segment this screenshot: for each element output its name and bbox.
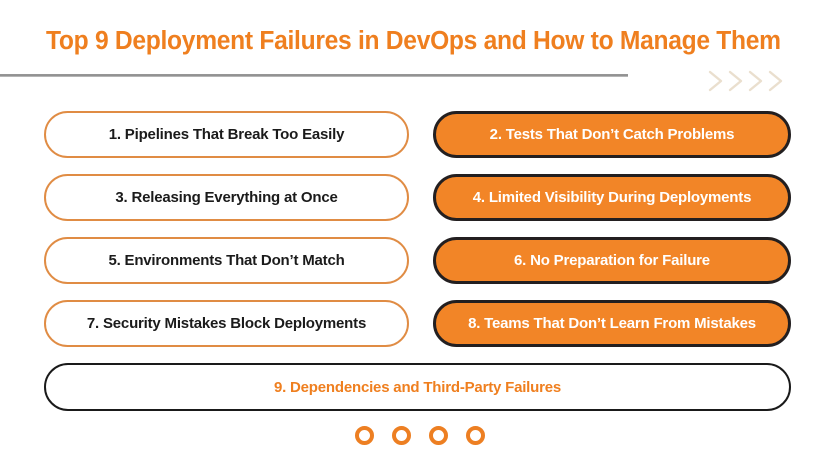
list-item[interactable]: 8. Teams That Don’t Learn From Mistakes: [433, 300, 791, 347]
list-item[interactable]: 4. Limited Visibility During Deployments: [433, 174, 791, 221]
list-item[interactable]: 6. No Preparation for Failure: [433, 237, 791, 284]
ring-dot-icon[interactable]: [429, 426, 448, 445]
ring-dot-icon[interactable]: [392, 426, 411, 445]
infographic-canvas: Top 9 Deployment Failures in DevOps and …: [0, 0, 840, 449]
pagination-dots: [355, 424, 485, 446]
list-item[interactable]: 2. Tests That Don’t Catch Problems: [433, 111, 791, 158]
ring-dot-icon[interactable]: [355, 426, 374, 445]
list-item[interactable]: 5. Environments That Don’t Match: [44, 237, 409, 284]
list-item[interactable]: 7. Security Mistakes Block Deployments: [44, 300, 409, 347]
failures-list: 1. Pipelines That Break Too Easily 2. Te…: [0, 0, 840, 449]
list-item[interactable]: 3. Releasing Everything at Once: [44, 174, 409, 221]
list-item[interactable]: 1. Pipelines That Break Too Easily: [44, 111, 409, 158]
list-item[interactable]: 9. Dependencies and Third-Party Failures: [44, 363, 791, 411]
ring-dot-icon[interactable]: [466, 426, 485, 445]
